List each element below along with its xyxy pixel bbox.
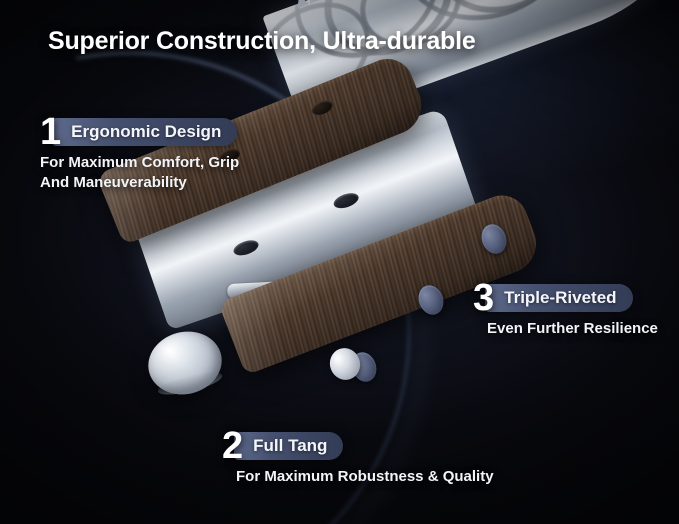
- callout-description: For Maximum Comfort, Grip And Maneuverab…: [40, 153, 239, 193]
- callout-label: Triple-Riveted: [504, 288, 616, 308]
- infographic-canvas: Superior Construction, Ultra-durable 1 E…: [0, 0, 679, 524]
- callout-number: 2: [222, 427, 243, 465]
- callout-number: 3: [473, 279, 494, 317]
- callout-badge: Triple-Riveted: [485, 284, 632, 312]
- callout-description: Even Further Resilience: [487, 319, 658, 339]
- callout-number: 1: [40, 113, 61, 151]
- callout-label: Full Tang: [253, 436, 327, 456]
- callout-ergonomic-design: 1 Ergonomic Design For Maximum Comfort, …: [40, 116, 239, 193]
- callout-description: For Maximum Robustness & Quality: [236, 467, 494, 487]
- callout-badge: Ergonomic Design: [52, 118, 237, 146]
- callout-label: Ergonomic Design: [71, 122, 221, 142]
- callout-badge: Full Tang: [234, 432, 343, 460]
- callout-full-tang: 2 Full Tang For Maximum Robustness & Qua…: [222, 430, 494, 487]
- page-title: Superior Construction, Ultra-durable: [48, 27, 476, 56]
- callout-triple-riveted: 3 Triple-Riveted Even Further Resilience: [473, 282, 658, 339]
